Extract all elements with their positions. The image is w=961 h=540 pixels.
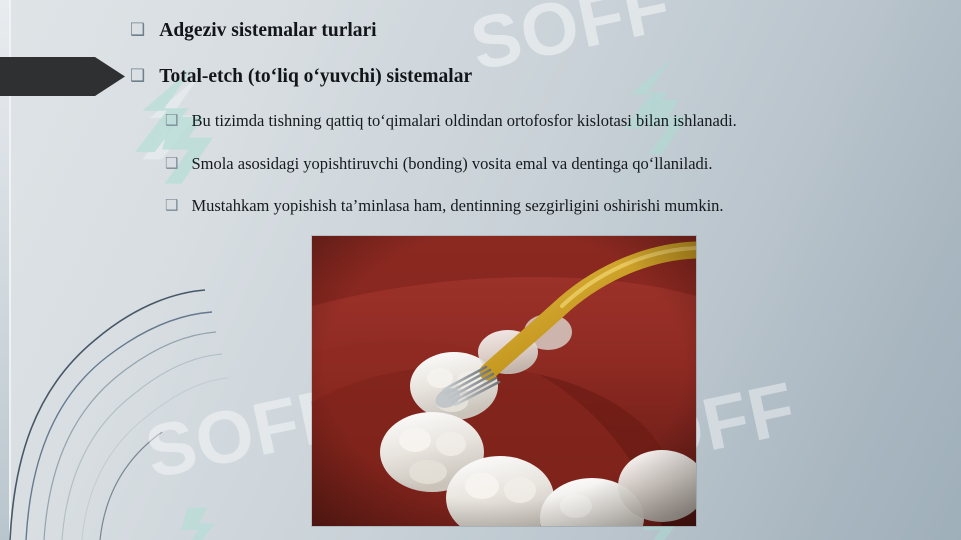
bullet-item-4: ❑ Smola asosidagi yopishtiruvchi (bondin…	[165, 154, 712, 174]
bullet-item-5: ❑ Mustahkam yopishish ta’minlasa ham, de…	[165, 196, 724, 216]
bullet-item-2: ❑ Total-etch (to‘liq o‘yuvchi) sistemala…	[130, 66, 472, 88]
bullet-marker-icon: ❑	[165, 156, 178, 171]
bullet-marker-icon: ❑	[130, 68, 145, 85]
bullet-text-5: Mustahkam yopishish ta’minlasa ham, dent…	[191, 196, 723, 216]
bullet-text-2: Total-etch (to‘liq o‘yuvchi) sistemalar	[159, 66, 472, 88]
bullet-item-1: ❑ Adgeziv sistemalar turlari	[130, 20, 377, 42]
bullet-marker-icon: ❑	[165, 113, 178, 128]
presentation-slide: SOFF SOFF SOFF ❑ Adgeziv sistemalar turl…	[0, 0, 961, 540]
bullet-text-4: Smola asosidagi yopishtiruvchi (bonding)…	[191, 154, 712, 174]
slide-body: ❑ Adgeziv sistemalar turlari ❑ Total-etc…	[0, 0, 961, 540]
bullet-text-3: Bu tizimda tishning qattiq to‘qimalari o…	[191, 111, 736, 131]
dental-etching-illustration	[312, 236, 696, 526]
bullet-marker-icon: ❑	[165, 198, 178, 213]
bullet-text-1: Adgeziv sistemalar turlari	[159, 20, 376, 42]
bullet-marker-icon: ❑	[130, 22, 145, 39]
bullet-item-3: ❑ Bu tizimda tishning qattiq to‘qimalari…	[165, 111, 737, 131]
